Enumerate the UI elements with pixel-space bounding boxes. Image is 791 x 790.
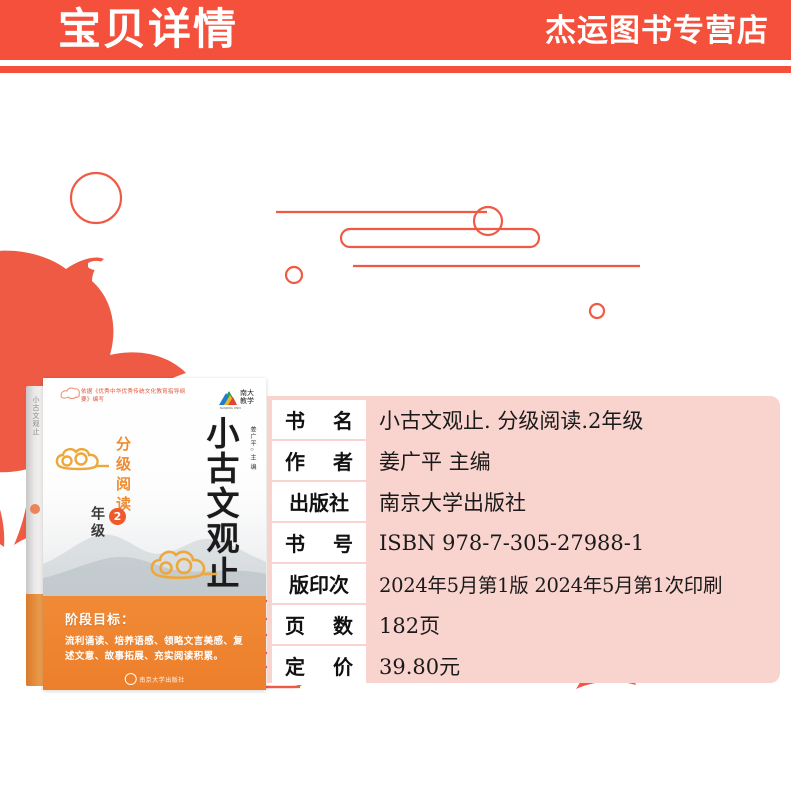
book-spec-table: 书名 小古文观止. 分级阅读.2年级 作者 姜广平 主编 出版社 南京大学出版社… (267, 396, 780, 683)
spine-grade-badge (30, 504, 40, 514)
table-row: 作者 姜广平 主编 (267, 441, 780, 480)
spine-title: 小古文观止 (28, 396, 42, 436)
cover-grade-label: 年级 (88, 506, 106, 540)
page-title: 宝贝详情 (58, 6, 238, 54)
cover-cloud-left-icon (53, 444, 113, 476)
cover-publisher-mark: 南京大学出版社 (124, 673, 185, 685)
publisher-logo-icon: 南大 教学 NANJING UNIV (218, 384, 258, 410)
spec-label-author: 作者 (272, 441, 366, 480)
label-char: 者 (333, 446, 353, 475)
book-front-cover: 依据《优秀中华优秀传统文化教育指导纲要》编写 南大 教学 NANJING UNI… (43, 378, 266, 690)
table-row: 定价 39.80元 (267, 646, 780, 685)
cover-author-credit: 姜广平○主 编 (247, 426, 256, 471)
spec-value-book-name: 小古文观止. 分级阅读.2年级 (366, 400, 780, 439)
spec-label-isbn: 书号 (272, 523, 366, 562)
publisher-seal-icon (124, 673, 136, 685)
book-spine: 小古文观止 (26, 386, 44, 686)
cover-cloud-small-icon (59, 386, 81, 400)
cover-grade-number: 2 (109, 508, 126, 525)
spec-value-author: 姜广平 主编 (366, 441, 780, 480)
koi-fish-eye (88, 261, 108, 270)
shop-name: 杰运图书专营店 (545, 13, 769, 49)
table-row: 书号 ISBN 978-7-305-27988-1 (267, 523, 780, 562)
publisher-name: 南京大学出版社 (139, 675, 185, 684)
label-char: 号 (333, 528, 353, 557)
label-char: 价 (333, 651, 353, 680)
label-char: 书 (285, 528, 305, 557)
label-char: 页 (285, 610, 305, 639)
spec-value-pages: 182页 (366, 605, 780, 644)
spec-value-price: 39.80元 (366, 646, 780, 685)
label-char: 名 (333, 405, 353, 434)
label-char: 数 (333, 610, 353, 639)
spec-label-pages: 页数 (272, 605, 366, 644)
svg-text:教学: 教学 (240, 396, 254, 405)
spine-orange-band (26, 594, 44, 686)
table-row: 书名 小古文观止. 分级阅读.2年级 (267, 400, 780, 439)
table-row: 版印次 2024年5月第1版 2024年5月第1次印刷 (267, 564, 780, 603)
spec-label-edition: 版印次 (272, 564, 366, 603)
spec-label-price: 定价 (272, 646, 366, 685)
label-char: 定 (285, 651, 305, 680)
cover-subtitle: 分级阅读 (113, 436, 132, 516)
header-accent-stripe (0, 66, 791, 73)
svg-text:南大: 南大 (240, 388, 254, 397)
table-row: 出版社 南京大学出版社 (267, 482, 780, 521)
cover-band-text: 流利诵读、培养语感、领略文言美感、复述文意、故事拓展、充实阅读积累。 (65, 634, 247, 664)
book-cover-image: 小古文观止 依据《优秀中华优秀传统文化教育指导纲要》编写 南大 教学 NANJI… (26, 378, 266, 690)
label-char: 书 (285, 405, 305, 434)
cover-orange-band: 阶段目标： 流利诵读、培养语感、领略文言美感、复述文意、故事拓展、充实阅读积累。… (43, 596, 266, 690)
cover-band-heading: 阶段目标： (65, 609, 135, 628)
table-row: 页数 182页 (267, 605, 780, 644)
label-char: 作 (285, 446, 305, 475)
spec-label-book-name: 书名 (272, 400, 366, 439)
cover-cloud-right-icon (147, 546, 221, 584)
spec-value-isbn: ISBN 978-7-305-27988-1 (366, 523, 780, 562)
svg-text:NANJING UNIV: NANJING UNIV (220, 406, 242, 410)
spec-label-publisher: 出版社 (272, 482, 366, 521)
page-header-band: 宝贝详情 杰运图书专营店 (0, 0, 791, 60)
cloud-line-motif-upper (71, 173, 640, 318)
cover-top-note: 依据《优秀中华优秀传统文化教育指导纲要》编写 (81, 388, 191, 404)
spec-value-edition: 2024年5月第1版 2024年5月第1次印刷 (366, 564, 780, 603)
spec-value-publisher: 南京大学出版社 (366, 482, 780, 521)
